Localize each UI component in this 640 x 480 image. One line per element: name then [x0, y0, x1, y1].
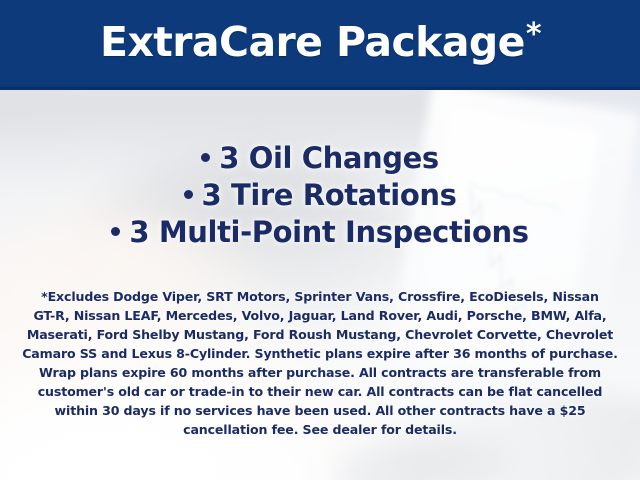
benefit-item: 3 Multi-Point Inspections	[0, 214, 640, 251]
benefit-item: 3 Oil Changes	[0, 140, 640, 177]
page-title-text: ExtraCare Package	[100, 18, 525, 66]
benefits-list: 3 Oil Changes 3 Tire Rotations 3 Multi-P…	[0, 140, 640, 251]
benefit-item-label: 3 Multi-Point Inspections	[129, 215, 528, 249]
bullet-dot-icon	[201, 153, 210, 162]
disclaimer-line: customer's old car or trade-in to their …	[0, 382, 640, 401]
bullet-dot-icon	[184, 190, 193, 199]
extracare-package-promo: ExtraCare Package* 3 Oil Changes 3 Tire …	[0, 0, 640, 480]
bullet-dot-icon	[111, 227, 120, 236]
benefit-item: 3 Tire Rotations	[0, 177, 640, 214]
disclaimer-line: Maserati, Ford Shelby Mustang, Ford Rous…	[0, 325, 640, 344]
disclaimer-line: cancellation fee. See dealer for details…	[0, 420, 640, 439]
disclaimer-line: Wrap plans expire 60 months after purcha…	[0, 363, 640, 382]
disclaimer-line: *Excludes Dodge Viper, SRT Motors, Sprin…	[0, 287, 640, 306]
page-title: ExtraCare Package*	[100, 22, 540, 63]
header-banner: ExtraCare Package*	[0, 0, 640, 90]
disclaimer-block: *Excludes Dodge Viper, SRT Motors, Sprin…	[0, 287, 640, 439]
disclaimer-line: GT-R, Nissan LEAF, Mercedes, Volvo, Jagu…	[0, 306, 640, 325]
disclaimer-line: within 30 days if no services have been …	[0, 401, 640, 420]
page-title-asterisk: *	[526, 17, 541, 52]
benefit-item-label: 3 Tire Rotations	[202, 178, 457, 212]
disclaimer-line: Camaro SS and Lexus 8-Cylinder. Syntheti…	[0, 344, 640, 363]
benefit-item-label: 3 Oil Changes	[219, 141, 439, 175]
